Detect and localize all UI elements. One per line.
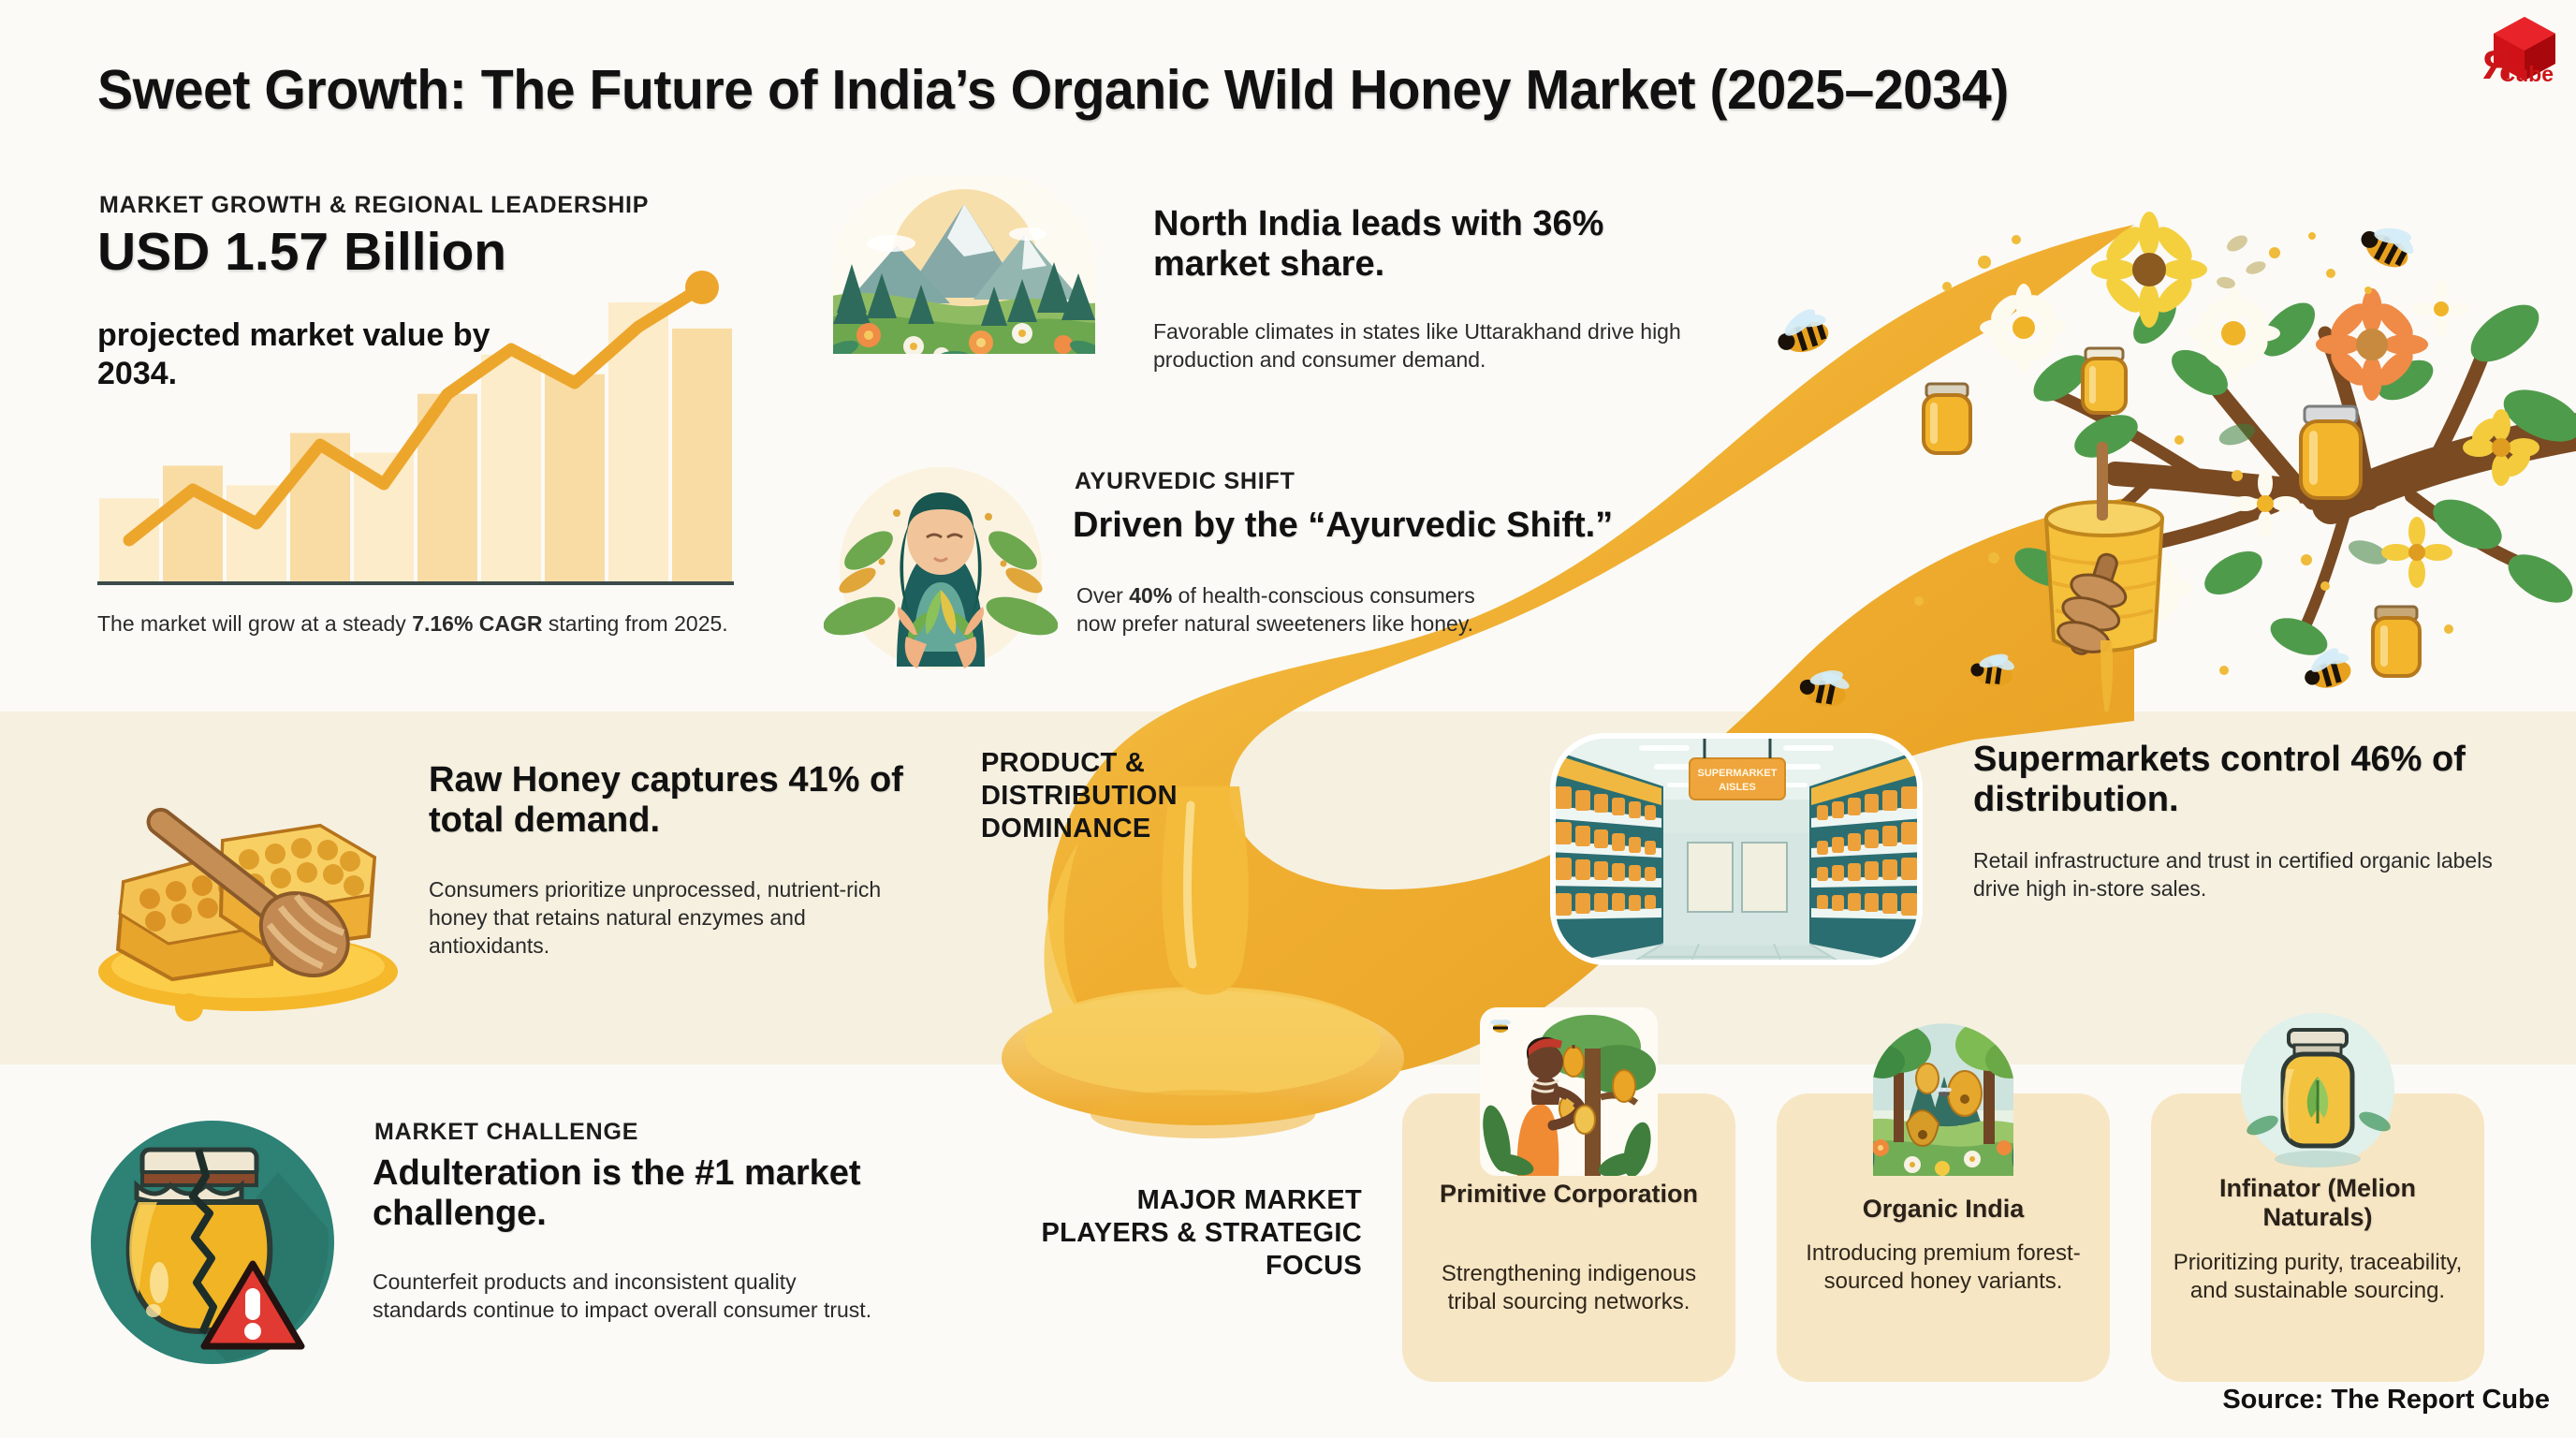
market-growth-chart — [97, 229, 734, 604]
page-title: Sweet Growth: The Future of India’s Orga… — [97, 58, 2009, 122]
wellness-woman-icon — [824, 451, 1058, 685]
ayurvedic-stat: 40% — [1129, 583, 1172, 608]
ayurvedic-eyebrow: AYURVEDIC SHIFT — [1075, 468, 1295, 495]
player-cards: Primitive Corporation Strengthening indi… — [1402, 1093, 2516, 1393]
player-card-infinator[interactable]: Infinator (Melion Naturals) Prioritizing… — [2151, 1093, 2484, 1382]
logo-word: Cube — [2500, 64, 2554, 85]
source-credit: Source: The Report Cube — [2222, 1385, 2550, 1416]
honey-jar-leaf-icon — [2229, 1007, 2407, 1176]
major-players-label: MAJOR MARKET PLAYERS & STRATEGIC FOCUS — [1016, 1184, 1362, 1282]
ayurvedic-headline: Driven by the “Ayurvedic Shift.” — [1073, 506, 1747, 546]
ayurvedic-body-prefix: Over — [1076, 583, 1129, 608]
north-india-headline: North India leads with 36% market share. — [1153, 204, 1677, 286]
player-card-title: Infinator (Melion Naturals) — [2164, 1174, 2471, 1232]
supermarkets-headline: Supermarkets control 46% of distribution… — [1973, 740, 2507, 821]
player-card-primitive-corporation[interactable]: Primitive Corporation Strengthening indi… — [1402, 1093, 1735, 1382]
infographic-canvas: Sweet Growth: The Future of India’s Orga… — [0, 0, 2576, 1438]
raw-honey-headline: Raw Honey captures 41% of total demand. — [429, 760, 915, 842]
player-card-desc: Strengthening indigenous tribal sourcing… — [1417, 1260, 1720, 1316]
player-card-desc: Prioritizing purity, traceability, and s… — [2166, 1249, 2469, 1305]
svg-text:AISLES: AISLES — [1719, 782, 1756, 793]
raw-honey-body: Consumers prioritize unprocessed, nutrie… — [429, 876, 915, 961]
cracked-honey-jar-warning-icon — [86, 1116, 339, 1369]
brand-logo[interactable]: R Cube — [2439, 11, 2561, 114]
product-distribution-label: PRODUCT & DISTRIBUTION DOMINANCE — [981, 747, 1290, 844]
market-growth-note: The market will grow at a steady 7.16% C… — [97, 610, 734, 638]
tribal-honey-harvester-icon — [1480, 1007, 1658, 1176]
supermarkets-body: Retail infrastructure and trust in certi… — [1973, 847, 2497, 903]
forest-beehive-icon — [1854, 1007, 2032, 1176]
cagr-note-prefix: The market will grow at a steady — [97, 611, 412, 636]
market-challenge-headline: Adulteration is the #1 market challenge. — [373, 1153, 878, 1235]
player-card-desc: Introducing premium forest-sourced honey… — [1792, 1240, 2095, 1296]
honeycomb-dipper-icon — [56, 749, 431, 1030]
player-card-title: Primitive Corporation — [1415, 1180, 1722, 1209]
mountain-forest-icon — [824, 176, 1105, 363]
player-card-organic-india[interactable]: Organic India Introducing premium forest… — [1777, 1093, 2110, 1382]
ayurvedic-body: Over 40% of health-conscious consumers n… — [1076, 582, 1479, 638]
north-india-body: Favorable climates in states like Uttara… — [1153, 318, 1715, 374]
market-growth-eyebrow: MARKET GROWTH & REGIONAL LEADERSHIP — [99, 192, 649, 219]
cagr-note-suffix: starting from 2025. — [543, 611, 728, 636]
market-challenge-body: Counterfeit products and inconsistent qu… — [373, 1269, 878, 1325]
svg-text:SUPERMARKET: SUPERMARKET — [1698, 768, 1778, 779]
market-challenge-eyebrow: MARKET CHALLENGE — [374, 1119, 638, 1146]
honey-branch-illustration — [1713, 150, 2576, 712]
player-card-title: Organic India — [1790, 1195, 2097, 1224]
supermarket-aisle-icon: SUPERMARKET AISLES — [1549, 732, 1924, 966]
cagr-value: 7.16% CAGR — [412, 611, 542, 636]
